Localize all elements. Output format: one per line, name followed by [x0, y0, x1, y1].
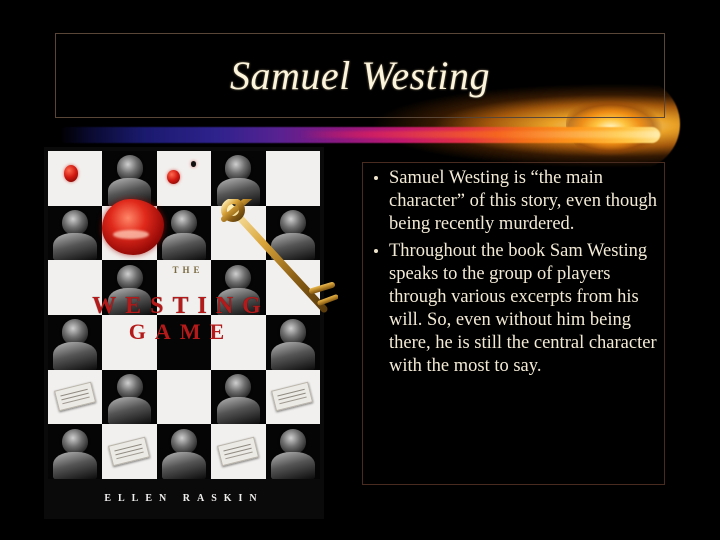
portrait-sketch — [266, 424, 320, 479]
cover-cell — [157, 206, 211, 261]
cover-author-name: ELLEN RASKIN — [44, 493, 324, 504]
cover-cell — [211, 206, 265, 261]
cover-cell — [266, 151, 320, 206]
portrait-sketch — [266, 315, 320, 370]
cover-cell — [266, 206, 320, 261]
cover-cell — [48, 424, 102, 479]
red-dot-icon — [167, 170, 180, 184]
page-title: Samuel Westing — [55, 33, 665, 118]
cover-title-line-2: GAME — [106, 319, 256, 345]
cover-cell — [211, 424, 265, 479]
portrait-sketch — [48, 315, 102, 370]
cover-cell — [48, 151, 102, 206]
black-dot-icon — [191, 161, 196, 167]
book-cover-image: THE WESTING GAME ELLEN RASKIN — [44, 147, 324, 519]
paper-slip-icon — [108, 436, 150, 465]
cover-cell — [157, 151, 211, 206]
rainbow-accent-bar — [60, 127, 660, 143]
portrait-sketch — [211, 370, 265, 425]
portrait-sketch — [102, 370, 156, 425]
cover-cell — [102, 370, 156, 425]
cover-cell — [266, 424, 320, 479]
portrait-sketch — [157, 206, 211, 261]
bullet-list: Samuel Westing is “the main character” o… — [367, 167, 658, 377]
cover-title-line-1: WESTING — [66, 293, 296, 320]
portrait-sketch — [157, 424, 211, 479]
cover-cell — [157, 370, 211, 425]
cover-cell — [48, 370, 102, 425]
paper-slip-icon — [54, 382, 96, 411]
cover-cell — [48, 206, 102, 261]
cover-cell — [266, 315, 320, 370]
portrait-sketch — [48, 424, 102, 479]
presentation-slide: Samuel Westing — [0, 0, 720, 540]
cover-cell — [266, 370, 320, 425]
bullet-item: Throughout the book Sam Westing speaks t… — [367, 240, 658, 378]
cover-cell — [48, 315, 102, 370]
paper-slip-icon — [217, 436, 259, 465]
cover-cell — [102, 151, 156, 206]
content-text-box: Samuel Westing is “the main character” o… — [362, 162, 665, 485]
rainbow-accent-bar-core — [300, 131, 660, 138]
cover-the-label: THE — [156, 265, 220, 275]
bullet-item: Samuel Westing is “the main character” o… — [367, 167, 658, 236]
paper-slip-icon — [271, 382, 313, 411]
red-dot-icon — [64, 165, 78, 181]
cover-cell — [211, 370, 265, 425]
portrait-sketch — [266, 206, 320, 261]
cover-cell — [102, 424, 156, 479]
portrait-sketch — [48, 206, 102, 261]
cover-cell — [157, 424, 211, 479]
portrait-sketch — [211, 151, 265, 206]
portrait-sketch — [102, 151, 156, 206]
cover-cell — [211, 151, 265, 206]
